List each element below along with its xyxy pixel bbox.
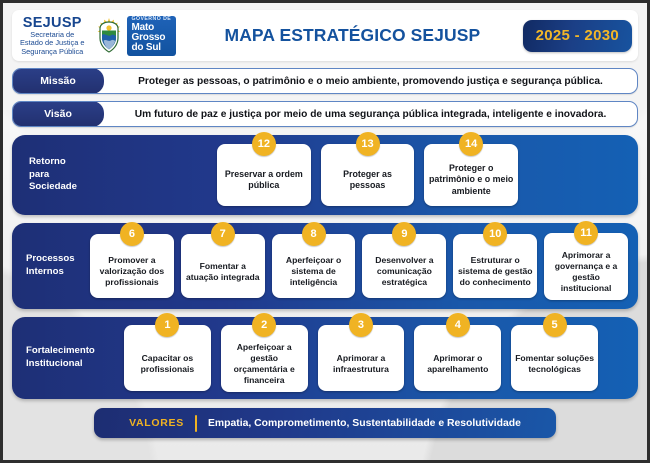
sejusp-subtitle-line-2: Estado de Justiça e [20, 39, 85, 47]
objective-card[interactable]: 4 Aprimorar o aparelhamento [414, 325, 501, 391]
vision-bar: Visão Um futuro de paz e justiça por mei… [12, 101, 638, 127]
objective-number-badge: 8 [302, 222, 326, 246]
objective-label: Aprimorar a governança e a gestão instit… [548, 250, 624, 294]
card-group-fortalecimento-institucional: 1 Capacitar os profissionais 2 Aperfeiço… [124, 325, 638, 392]
objective-number-badge: 10 [483, 222, 507, 246]
objective-number-badge: 7 [211, 222, 235, 246]
objective-number-badge: 2 [252, 313, 276, 337]
values-divider [195, 415, 197, 432]
objective-label: Estruturar o sistema de gestão do conhec… [457, 255, 533, 288]
objective-label: Fomentar soluções tecnológicas [515, 353, 594, 375]
values-bar: VALORES Empatia, Comprometimento, Susten… [94, 408, 556, 438]
objective-card[interactable]: 11 Aprimorar a governança e a gestão ins… [544, 233, 628, 300]
objective-label: Preservar a ordem pública [221, 169, 307, 192]
objective-label: Proteger o patrimônio e o meio ambiente [428, 163, 514, 197]
objective-card[interactable]: 12 Preservar a ordem pública [217, 144, 311, 206]
objective-card[interactable]: 5 Fomentar soluções tecnológicas [511, 325, 598, 391]
objective-label: Aperfeiçoar o sistema de inteligência [276, 255, 352, 288]
vision-label: Visão [12, 101, 104, 127]
objective-card[interactable]: 2 Aperfeiçoar a gestão orçamentária e fi… [221, 325, 308, 392]
objective-card[interactable]: 14 Proteger o patrimônio e o meio ambien… [424, 144, 518, 206]
band-label-retorno-sociedade: Retorno para Sociedade [12, 156, 217, 194]
objective-number-badge: 6 [120, 222, 144, 246]
objective-number-badge: 3 [349, 313, 373, 337]
objective-label: Promover a valorização dos profissionais [94, 255, 170, 288]
values-footer: VALORES Empatia, Comprometimento, Susten… [12, 408, 638, 438]
government-name-block: GOVERNO DE Mato Grosso do Sul [127, 16, 177, 56]
objective-label: Fomentar a atuação integrada [185, 261, 261, 283]
objective-card[interactable]: 1 Capacitar os profissionais [124, 325, 211, 391]
objective-card[interactable]: 7 Fomentar a atuação integrada [181, 234, 265, 298]
strategic-map-poster: SEJUSP Secretaria de Estado de Justiça e… [0, 0, 650, 463]
objective-label: Aprimorar a infraestrutura [322, 353, 401, 375]
objective-card[interactable]: 9 Desenvolver a comunicação estratégica [362, 234, 446, 298]
sejusp-subtitle-line-3: Segurança Pública [20, 48, 85, 56]
objective-card[interactable]: 10 Estruturar o sistema de gestão do con… [453, 234, 537, 298]
card-group-retorno-sociedade: 12 Preservar a ordem pública 13 Proteger… [217, 144, 638, 206]
values-text: Empatia, Comprometimento, Sustentabilida… [208, 418, 521, 429]
objective-label: Aperfeiçoar a gestão orçamentária e fina… [225, 342, 304, 386]
government-name-line-3: do Sul [132, 43, 172, 53]
band-label-fortalecimento-institucional: Fortalecimento Institucional [12, 345, 124, 370]
sejusp-logo: SEJUSP Secretaria de Estado de Justiça e… [20, 16, 91, 56]
card-group-processos-internos: 6 Promover a valorização dos profissiona… [90, 233, 638, 300]
objective-number-badge: 11 [574, 221, 598, 245]
vision-text: Um futuro de paz e justiça por meio de u… [104, 102, 637, 126]
objective-label: Aprimorar o aparelhamento [418, 353, 497, 375]
mission-text: Proteger as pessoas, o patrimônio e o me… [104, 69, 637, 93]
objective-number-badge: 14 [459, 132, 483, 156]
poster-header: SEJUSP Secretaria de Estado de Justiça e… [12, 10, 638, 61]
perspective-band-retorno-sociedade: Retorno para Sociedade 12 Preservar a or… [12, 135, 638, 215]
objective-label: Desenvolver a comunicação estratégica [366, 255, 442, 288]
objective-card[interactable]: 6 Promover a valorização dos profissiona… [90, 234, 174, 298]
objective-card[interactable]: 13 Proteger as pessoas [321, 144, 415, 206]
band-label-processos-internos: Processos Internos [12, 253, 90, 278]
mission-label: Missão [12, 68, 104, 94]
objective-number-badge: 13 [356, 132, 380, 156]
government-logo: GOVERNO DE Mato Grosso do Sul [91, 15, 177, 57]
perspective-band-fortalecimento-institucional: Fortalecimento Institucional 1 Capacitar… [12, 317, 638, 399]
objective-number-badge: 9 [392, 222, 416, 246]
perspective-band-processos-internos: Processos Internos 6 Promover a valoriza… [12, 223, 638, 309]
period-badge: 2025 - 2030 [523, 20, 632, 52]
objective-number-badge: 5 [543, 313, 567, 337]
objective-card[interactable]: 3 Aprimorar a infraestrutura [318, 325, 405, 391]
objective-label: Proteger as pessoas [325, 169, 411, 192]
page-title: MAPA ESTRATÉGICO SEJUSP [182, 25, 522, 46]
objective-card[interactable]: 8 Aperfeiçoar o sistema de inteligência [272, 234, 356, 298]
sejusp-acronym: SEJUSP [20, 16, 85, 31]
objective-number-badge: 12 [252, 132, 276, 156]
objective-number-badge: 4 [446, 313, 470, 337]
objective-label: Capacitar os profissionais [128, 353, 207, 375]
values-label: VALORES [129, 417, 184, 429]
mission-bar: Missão Proteger as pessoas, o patrimônio… [12, 68, 638, 94]
coat-of-arms-icon [91, 16, 127, 56]
objective-number-badge: 1 [155, 313, 179, 337]
